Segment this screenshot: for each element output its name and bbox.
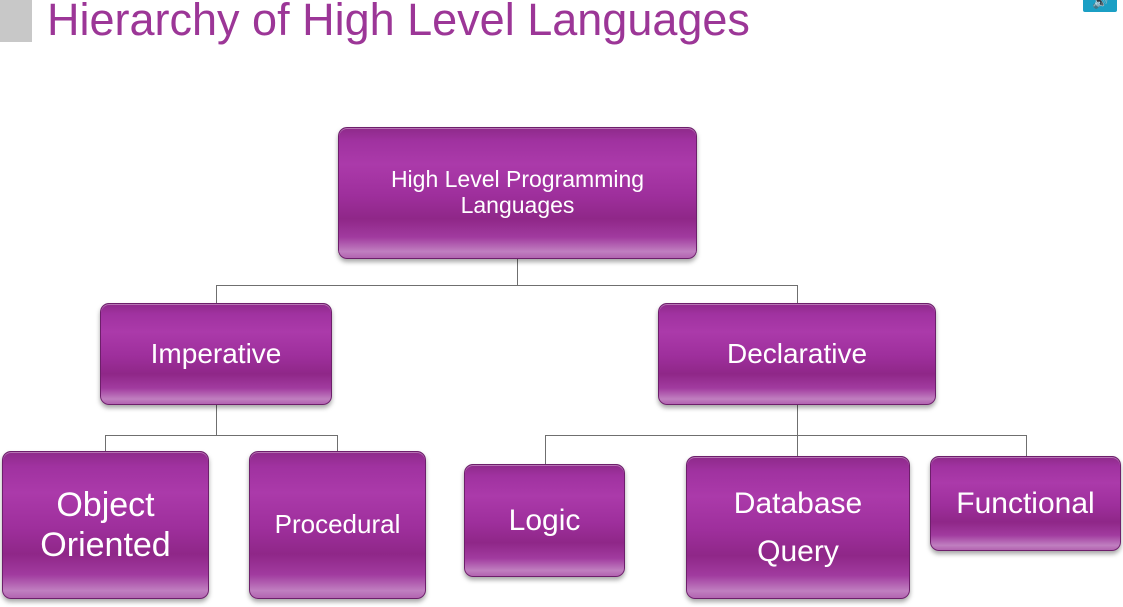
connector-declarative-stem bbox=[797, 405, 798, 435]
connector-imperative-stem bbox=[216, 405, 217, 435]
connector-root-stem bbox=[517, 259, 518, 285]
connector-to-declarative bbox=[797, 285, 798, 303]
node-imperative[interactable]: Imperative bbox=[100, 303, 332, 405]
connector-level1-bus bbox=[216, 285, 797, 286]
connector-to-imperative bbox=[216, 285, 217, 303]
node-high-level-programming-languages[interactable]: High Level Programming Languages bbox=[338, 127, 697, 259]
node-object-oriented[interactable]: Object Oriented bbox=[2, 451, 209, 599]
connector-to-functional bbox=[1026, 435, 1027, 457]
node-label: Functional bbox=[948, 487, 1102, 521]
connector-to-logic bbox=[545, 435, 546, 465]
connector-declarative-bus bbox=[545, 435, 1026, 436]
node-label: Database Query bbox=[687, 480, 909, 576]
connector-imperative-bus bbox=[105, 435, 337, 436]
connector-to-database-query bbox=[797, 435, 798, 457]
node-declarative[interactable]: Declarative bbox=[658, 303, 936, 405]
node-label: High Level Programming Languages bbox=[339, 167, 696, 219]
node-label: Imperative bbox=[143, 338, 290, 369]
node-database-query[interactable]: Database Query bbox=[686, 456, 910, 599]
square-marker-icon bbox=[0, 0, 32, 42]
volume-glyph: 🔊 bbox=[1092, 0, 1108, 11]
page-title: Hierarchy of High Level Languages bbox=[47, 0, 750, 46]
node-label: Procedural bbox=[267, 510, 409, 539]
slide-canvas: Hierarchy of High Level Languages 🔊 High… bbox=[0, 0, 1123, 607]
node-procedural[interactable]: Procedural bbox=[249, 451, 426, 599]
node-logic[interactable]: Logic bbox=[464, 464, 625, 577]
node-label: Object Oriented bbox=[3, 485, 208, 565]
node-label: Logic bbox=[501, 504, 589, 538]
node-functional[interactable]: Functional bbox=[930, 456, 1121, 551]
node-label: Declarative bbox=[719, 338, 875, 369]
volume-icon[interactable]: 🔊 bbox=[1083, 0, 1117, 12]
